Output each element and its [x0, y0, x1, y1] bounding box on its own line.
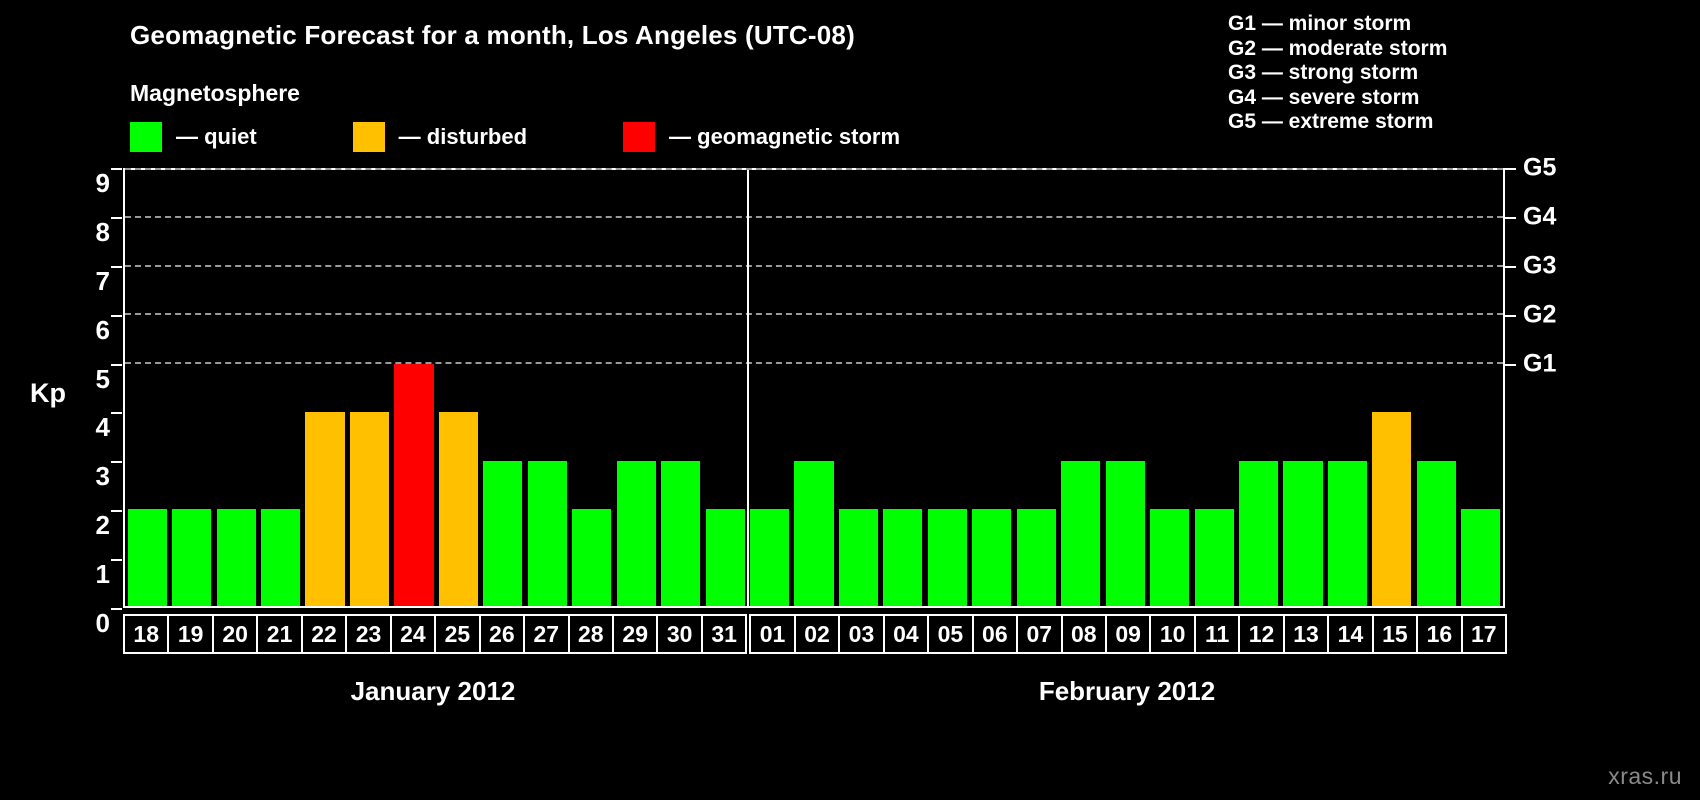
bar[interactable]	[1239, 461, 1278, 606]
month-divider	[747, 170, 749, 606]
bar-slot[interactable]	[525, 170, 569, 606]
date-cell[interactable]: 27	[523, 614, 569, 654]
month-caption: January 2012	[123, 676, 743, 707]
g-tick-label: G4	[1523, 202, 1556, 231]
date-cell[interactable]: 05	[927, 614, 973, 654]
legend-entry: — geomagnetic storm	[623, 122, 900, 152]
kp-axis-title: Kp	[30, 378, 66, 409]
bar[interactable]	[706, 509, 745, 606]
bar-slot[interactable]	[970, 170, 1014, 606]
g-legend-row: G5 — extreme storm	[1228, 110, 1447, 135]
bar[interactable]	[617, 461, 656, 606]
date-cell[interactable]: 26	[479, 614, 525, 654]
plot-inner	[125, 170, 1503, 606]
g-tick-mark	[1505, 364, 1516, 366]
bar-slot[interactable]	[1147, 170, 1191, 606]
legend-entry: — disturbed	[353, 122, 527, 152]
date-cell[interactable]: 28	[568, 614, 614, 654]
date-cell[interactable]: 14	[1327, 614, 1373, 654]
bar[interactable]	[1195, 509, 1234, 606]
bar-slot[interactable]	[614, 170, 658, 606]
legend-label: — disturbed	[399, 124, 527, 150]
g-legend-row: G3 — strong storm	[1228, 61, 1447, 86]
legend-label: — quiet	[176, 124, 257, 150]
bar[interactable]	[305, 412, 344, 606]
bar-slot[interactable]	[258, 170, 302, 606]
g-legend-row: G1 — minor storm	[1228, 12, 1447, 37]
bar[interactable]	[128, 509, 167, 606]
g-tick-label: G2	[1523, 300, 1556, 329]
date-cell[interactable]: 07	[1016, 614, 1062, 654]
date-cell[interactable]: 25	[434, 614, 480, 654]
bar-slot[interactable]	[836, 170, 880, 606]
bar-slot[interactable]	[792, 170, 836, 606]
date-cell[interactable]: 18	[123, 614, 169, 654]
kp-tick-mark	[111, 510, 122, 512]
bar[interactable]	[528, 461, 567, 606]
bar[interactable]	[839, 509, 878, 606]
color-legend: — quiet— disturbed— geomagnetic storm	[130, 122, 900, 152]
bar[interactable]	[750, 509, 789, 606]
kp-tick-mark	[111, 168, 122, 170]
legend-label: — geomagnetic storm	[669, 124, 900, 150]
date-cell[interactable]: 30	[656, 614, 702, 654]
bar[interactable]	[1150, 509, 1189, 606]
bar-slot[interactable]	[881, 170, 925, 606]
bar[interactable]	[1017, 509, 1056, 606]
date-cell[interactable]: 10	[1149, 614, 1195, 654]
date-cell[interactable]: 08	[1061, 614, 1107, 654]
bar-slot[interactable]	[925, 170, 969, 606]
kp-tick-mark	[111, 608, 122, 610]
kp-tick-mark	[111, 559, 122, 561]
magnetosphere-label: Magnetosphere	[130, 80, 300, 107]
bar-slot[interactable]	[747, 170, 791, 606]
bar-slot[interactable]	[703, 170, 747, 606]
bar-slot[interactable]	[1370, 170, 1414, 606]
disturbed-swatch	[353, 122, 385, 152]
date-axis: 1819202122232425262728293031010203040506…	[123, 614, 1505, 654]
bar-slot[interactable]	[1014, 170, 1058, 606]
bar-slot[interactable]	[1236, 170, 1280, 606]
date-cell[interactable]: 13	[1283, 614, 1329, 654]
date-cell[interactable]: 22	[301, 614, 347, 654]
date-cell[interactable]: 02	[794, 614, 840, 654]
kp-tick-mark	[111, 266, 122, 268]
date-cell[interactable]: 24	[390, 614, 436, 654]
date-cell[interactable]: 20	[212, 614, 258, 654]
plot-area	[123, 168, 1505, 608]
legend-entry: — quiet	[130, 122, 257, 152]
kp-tick-mark	[111, 412, 122, 414]
date-cell[interactable]: 06	[972, 614, 1018, 654]
bar[interactable]	[350, 412, 389, 606]
g-scale-axis: G1G2G3G4G5	[1505, 168, 1575, 608]
g-scale-legend: G1 — minor stormG2 — moderate stormG3 — …	[1228, 12, 1447, 135]
kp-axis: 0123456789	[60, 168, 118, 608]
bar[interactable]	[1417, 461, 1456, 606]
bar[interactable]	[261, 509, 300, 606]
date-cell[interactable]: 19	[167, 614, 213, 654]
date-cell[interactable]: 09	[1105, 614, 1151, 654]
bar-slot[interactable]	[303, 170, 347, 606]
bar-slot[interactable]	[1281, 170, 1325, 606]
bar[interactable]	[1106, 461, 1145, 606]
geomagnetic-forecast-chart: Geomagnetic Forecast for a month, Los An…	[0, 0, 1700, 800]
date-cell[interactable]: 16	[1416, 614, 1462, 654]
kp-tick-mark	[111, 461, 122, 463]
bar-slot[interactable]	[1414, 170, 1458, 606]
bar-slot[interactable]	[1325, 170, 1369, 606]
bar-slot[interactable]	[1459, 170, 1503, 606]
bar[interactable]	[1372, 412, 1411, 606]
bar-slot[interactable]	[214, 170, 258, 606]
g-legend-row: G4 — severe storm	[1228, 86, 1447, 111]
date-cell[interactable]: 01	[749, 614, 795, 654]
g-legend-row: G2 — moderate storm	[1228, 37, 1447, 62]
bar[interactable]	[794, 461, 833, 606]
date-cell[interactable]: 15	[1372, 614, 1418, 654]
kp-tick-mark	[111, 315, 122, 317]
date-cell[interactable]: 21	[256, 614, 302, 654]
kp-tick-mark	[111, 217, 122, 219]
watermark: xras.ru	[1608, 763, 1682, 790]
kp-tick-mark	[111, 364, 122, 366]
month-caption: February 2012	[749, 676, 1505, 707]
date-cell[interactable]: 03	[838, 614, 884, 654]
g-tick-mark	[1505, 266, 1516, 268]
bar-slot[interactable]	[125, 170, 169, 606]
bar[interactable]	[483, 461, 522, 606]
date-cell[interactable]: 29	[612, 614, 658, 654]
g-tick-mark	[1505, 217, 1516, 219]
bar-slot[interactable]	[436, 170, 480, 606]
page-title: Geomagnetic Forecast for a month, Los An…	[130, 20, 855, 51]
bar-slot[interactable]	[658, 170, 702, 606]
bars-layer	[125, 170, 1503, 606]
date-cell[interactable]: 04	[883, 614, 929, 654]
bar[interactable]	[217, 509, 256, 606]
bar-slot[interactable]	[392, 170, 436, 606]
bar[interactable]	[439, 412, 478, 606]
g-tick-label: G1	[1523, 349, 1556, 378]
bar-slot[interactable]	[570, 170, 614, 606]
bar[interactable]	[172, 509, 211, 606]
g-tick-label: G5	[1523, 154, 1556, 183]
bar[interactable]	[394, 364, 433, 606]
date-cell[interactable]: 11	[1194, 614, 1240, 654]
bar-slot[interactable]	[347, 170, 391, 606]
g-tick-mark	[1505, 168, 1516, 170]
g-tick-mark	[1505, 315, 1516, 317]
bar-slot[interactable]	[169, 170, 213, 606]
bar-slot[interactable]	[1059, 170, 1103, 606]
bar[interactable]	[1283, 461, 1322, 606]
bar[interactable]	[661, 461, 700, 606]
bar[interactable]	[572, 509, 611, 606]
date-cell[interactable]: 31	[701, 614, 747, 654]
bar[interactable]	[1061, 461, 1100, 606]
quiet-swatch	[130, 122, 162, 152]
bar-slot[interactable]	[1103, 170, 1147, 606]
storm-swatch	[623, 122, 655, 152]
date-cell[interactable]: 17	[1461, 614, 1507, 654]
bar[interactable]	[928, 509, 967, 606]
date-cell[interactable]: 23	[345, 614, 391, 654]
bar[interactable]	[972, 509, 1011, 606]
date-cell[interactable]: 12	[1238, 614, 1284, 654]
g-tick-label: G3	[1523, 251, 1556, 280]
bar[interactable]	[1461, 509, 1500, 606]
bar-slot[interactable]	[1192, 170, 1236, 606]
bar-slot[interactable]	[481, 170, 525, 606]
bar[interactable]	[883, 509, 922, 606]
bar[interactable]	[1328, 461, 1367, 606]
